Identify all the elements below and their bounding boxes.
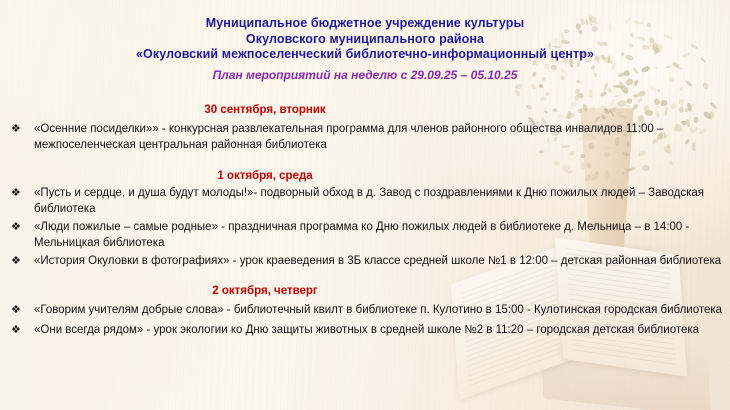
- event-item: ❖«Люди пожилые – самые родные» - праздни…: [0, 219, 730, 252]
- event-item: ❖«Пусть и сердце, и душа будут молоды!»-…: [0, 185, 730, 218]
- day-heading: 2 октября, четверг: [0, 269, 730, 299]
- schedule-section: 1 октября, среда❖«Пусть и сердце, и душа…: [0, 154, 730, 270]
- event-text: «История Окуловки в фотографиях» - урок …: [34, 255, 721, 267]
- event-item: ❖«Говорим учителям добрые слова» - библи…: [0, 302, 730, 319]
- diamond-bullet-icon: ❖: [11, 121, 21, 138]
- day-heading: 1 октября, среда: [0, 154, 730, 184]
- schedule-sections: 30 сентября, вторник❖«Осенние посиделки»…: [0, 84, 730, 339]
- poster-root: Муниципальное бюджетное учреждение культ…: [0, 0, 730, 410]
- header-line-3: «Окуловский межпоселенческий библиотечно…: [0, 47, 730, 63]
- diamond-bullet-icon: ❖: [11, 302, 21, 319]
- poster-header: Муниципальное бюджетное учреждение культ…: [0, 0, 730, 84]
- event-text: «Говорим учителям добрые слова» - библио…: [34, 304, 722, 316]
- event-text: «Осенние посиделки»» - конкурсная развле…: [34, 123, 663, 152]
- event-item: ❖«История Окуловки в фотографиях» - урок…: [0, 253, 730, 270]
- header-line-1: Муниципальное бюджетное учреждение культ…: [0, 16, 730, 32]
- event-item: ❖«Они всегда рядом» - урок экологии ко Д…: [0, 322, 730, 339]
- diamond-bullet-icon: ❖: [11, 219, 21, 236]
- header-subtitle: План мероприятий на неделю с 29.09.25 – …: [0, 63, 730, 84]
- event-text: «Люди пожилые – самые родные» - празднич…: [34, 221, 689, 250]
- day-heading: 30 сентября, вторник: [0, 84, 730, 118]
- diamond-bullet-icon: ❖: [11, 253, 21, 270]
- schedule-section: 30 сентября, вторник❖«Осенние посиделки»…: [0, 84, 730, 154]
- event-text: «Они всегда рядом» - урок экологии ко Дн…: [34, 324, 699, 336]
- diamond-bullet-icon: ❖: [11, 185, 21, 202]
- poster-content: Муниципальное бюджетное учреждение культ…: [0, 0, 730, 338]
- header-line-2: Окуловского муниципального района: [0, 32, 730, 48]
- event-text: «Пусть и сердце, и душа будут молоды!»- …: [34, 187, 704, 216]
- diamond-bullet-icon: ❖: [11, 322, 21, 339]
- event-item: ❖«Осенние посиделки»» - конкурсная развл…: [0, 121, 730, 154]
- schedule-section: 2 октября, четверг❖«Говорим учителям доб…: [0, 269, 730, 338]
